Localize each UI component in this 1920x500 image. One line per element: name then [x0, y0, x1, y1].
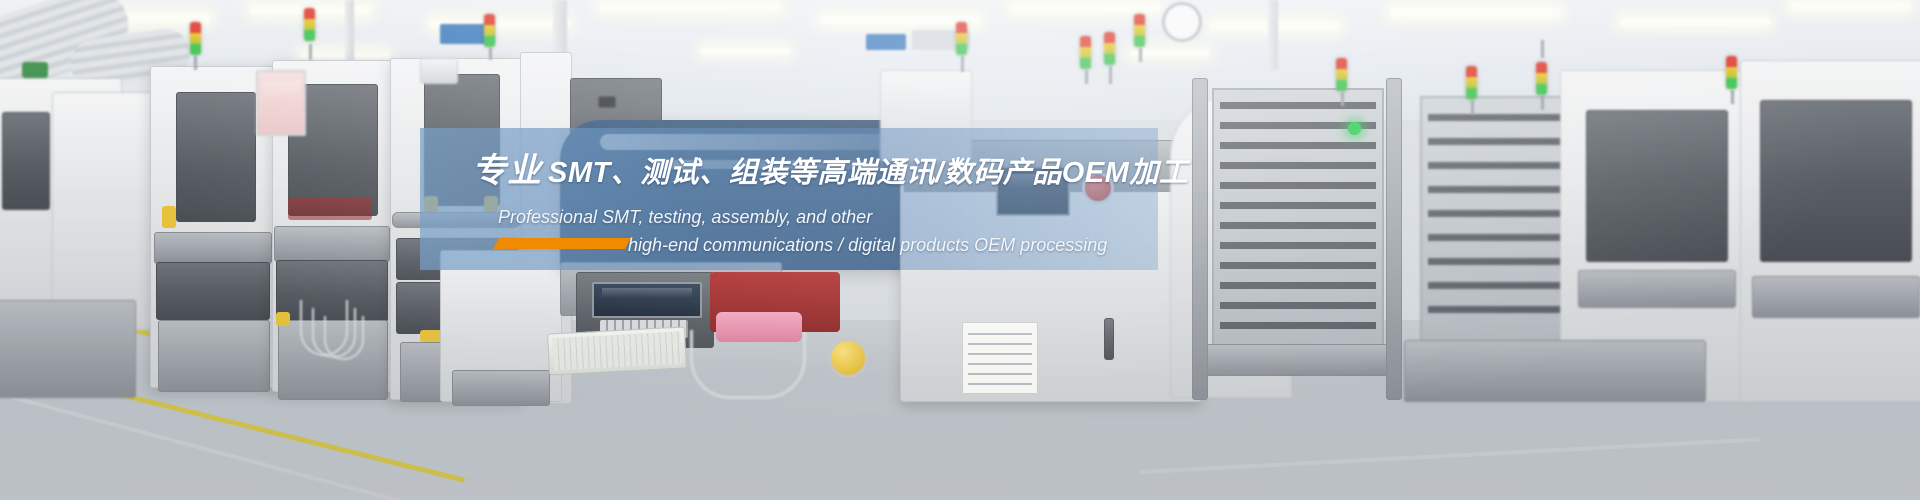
feeder-bank: [154, 232, 272, 264]
wall-clock: [1162, 2, 1202, 42]
stack-light: [304, 8, 315, 41]
machine-lower-panel: [156, 262, 270, 320]
banner-headline-emphasis: 专业: [472, 152, 542, 190]
machine-window: [1586, 110, 1728, 262]
machine-handle: [1104, 318, 1114, 360]
stack-light: [1536, 62, 1547, 95]
stack-light: [1080, 36, 1091, 69]
cable-bundle: [324, 316, 364, 360]
machine-touchscreen: [256, 70, 306, 136]
hanging-sign: [866, 34, 906, 50]
ceiling-lamp: [1620, 18, 1770, 26]
stack-light-pole: [1341, 92, 1344, 106]
machine-window: [1760, 100, 1912, 262]
rack-base: [1196, 344, 1398, 376]
stack-light-pole: [1139, 48, 1142, 62]
stack-light: [1134, 14, 1145, 47]
stack-light: [956, 22, 967, 55]
rack-base: [1404, 340, 1706, 402]
stack-light: [1466, 66, 1477, 99]
stack-light-pole: [489, 48, 492, 60]
stack-light: [1104, 32, 1115, 65]
cabinet-vent: [598, 96, 616, 108]
esd-foam: [716, 312, 802, 342]
rack-post: [1386, 78, 1402, 400]
machine-indicator-strip: [288, 198, 372, 220]
machine-panel: [2, 112, 50, 210]
machine-label: [420, 58, 458, 84]
emergency-stop-button: [828, 338, 868, 378]
stack-light-pole: [1109, 66, 1112, 84]
ceiling-lamp: [1130, 50, 1210, 56]
machine-unit: [52, 92, 152, 330]
machine-base: [158, 320, 270, 392]
machine-document: [962, 322, 1038, 394]
machine-window: [176, 92, 256, 222]
rack-post: [1192, 78, 1208, 400]
ceiling-lamp: [1010, 4, 1160, 12]
storage-rack: [1420, 96, 1574, 350]
banner-headline: 专业SMT、测试、组装等高端通讯/数码产品OEM加工: [472, 154, 1188, 190]
machine-base: [0, 300, 136, 398]
stack-light: [484, 14, 495, 47]
feeder-bank: [274, 226, 390, 262]
banner-screenshot: 专业SMT、测试、组装等高端通讯/数码产品OEM加工 Professional …: [0, 0, 1920, 500]
stack-light: [1726, 56, 1737, 89]
stack-light-pole: [309, 44, 312, 60]
ceiling-lamp: [700, 48, 790, 54]
stack-light-pole: [1085, 70, 1088, 84]
banner-headline-rest: SMT、测试、组装等高端通讯/数码产品OEM加工: [548, 157, 1188, 189]
stack-light-pole: [1731, 90, 1734, 104]
promo-banner-overlay: 专业SMT、测试、组装等高端通讯/数码产品OEM加工 Professional …: [420, 128, 1158, 270]
ceiling-lamp: [1790, 2, 1910, 10]
machine-hazard-mark: [276, 312, 290, 326]
stack-light-pole: [961, 56, 964, 72]
feeder-bank: [1752, 276, 1920, 318]
stack-light-pole: [1471, 100, 1474, 114]
stack-light: [190, 22, 201, 55]
banner-subtitle-line-2: high-end communications / digital produc…: [628, 234, 1107, 256]
machine-base: [452, 370, 550, 406]
status-indicator: [22, 62, 48, 78]
ceiling-lamp: [600, 2, 780, 11]
rack-status-light: [1348, 122, 1361, 135]
banner-accent-bar: [493, 238, 631, 249]
ceiling-strut: [1268, 0, 1278, 70]
stack-light: [1336, 58, 1347, 91]
stack-light-pole: [1541, 96, 1544, 110]
console-screen: [592, 282, 702, 318]
ceiling-lamp: [1390, 8, 1560, 17]
stack-light-pole: [194, 56, 197, 70]
keyboard: [547, 326, 687, 375]
machine-hazard-mark: [162, 206, 176, 228]
banner-subtitle-line-1: Professional SMT, testing, assembly, and…: [498, 206, 872, 228]
stack-light-pole: [1541, 40, 1544, 58]
feeder-bank: [1578, 270, 1736, 308]
